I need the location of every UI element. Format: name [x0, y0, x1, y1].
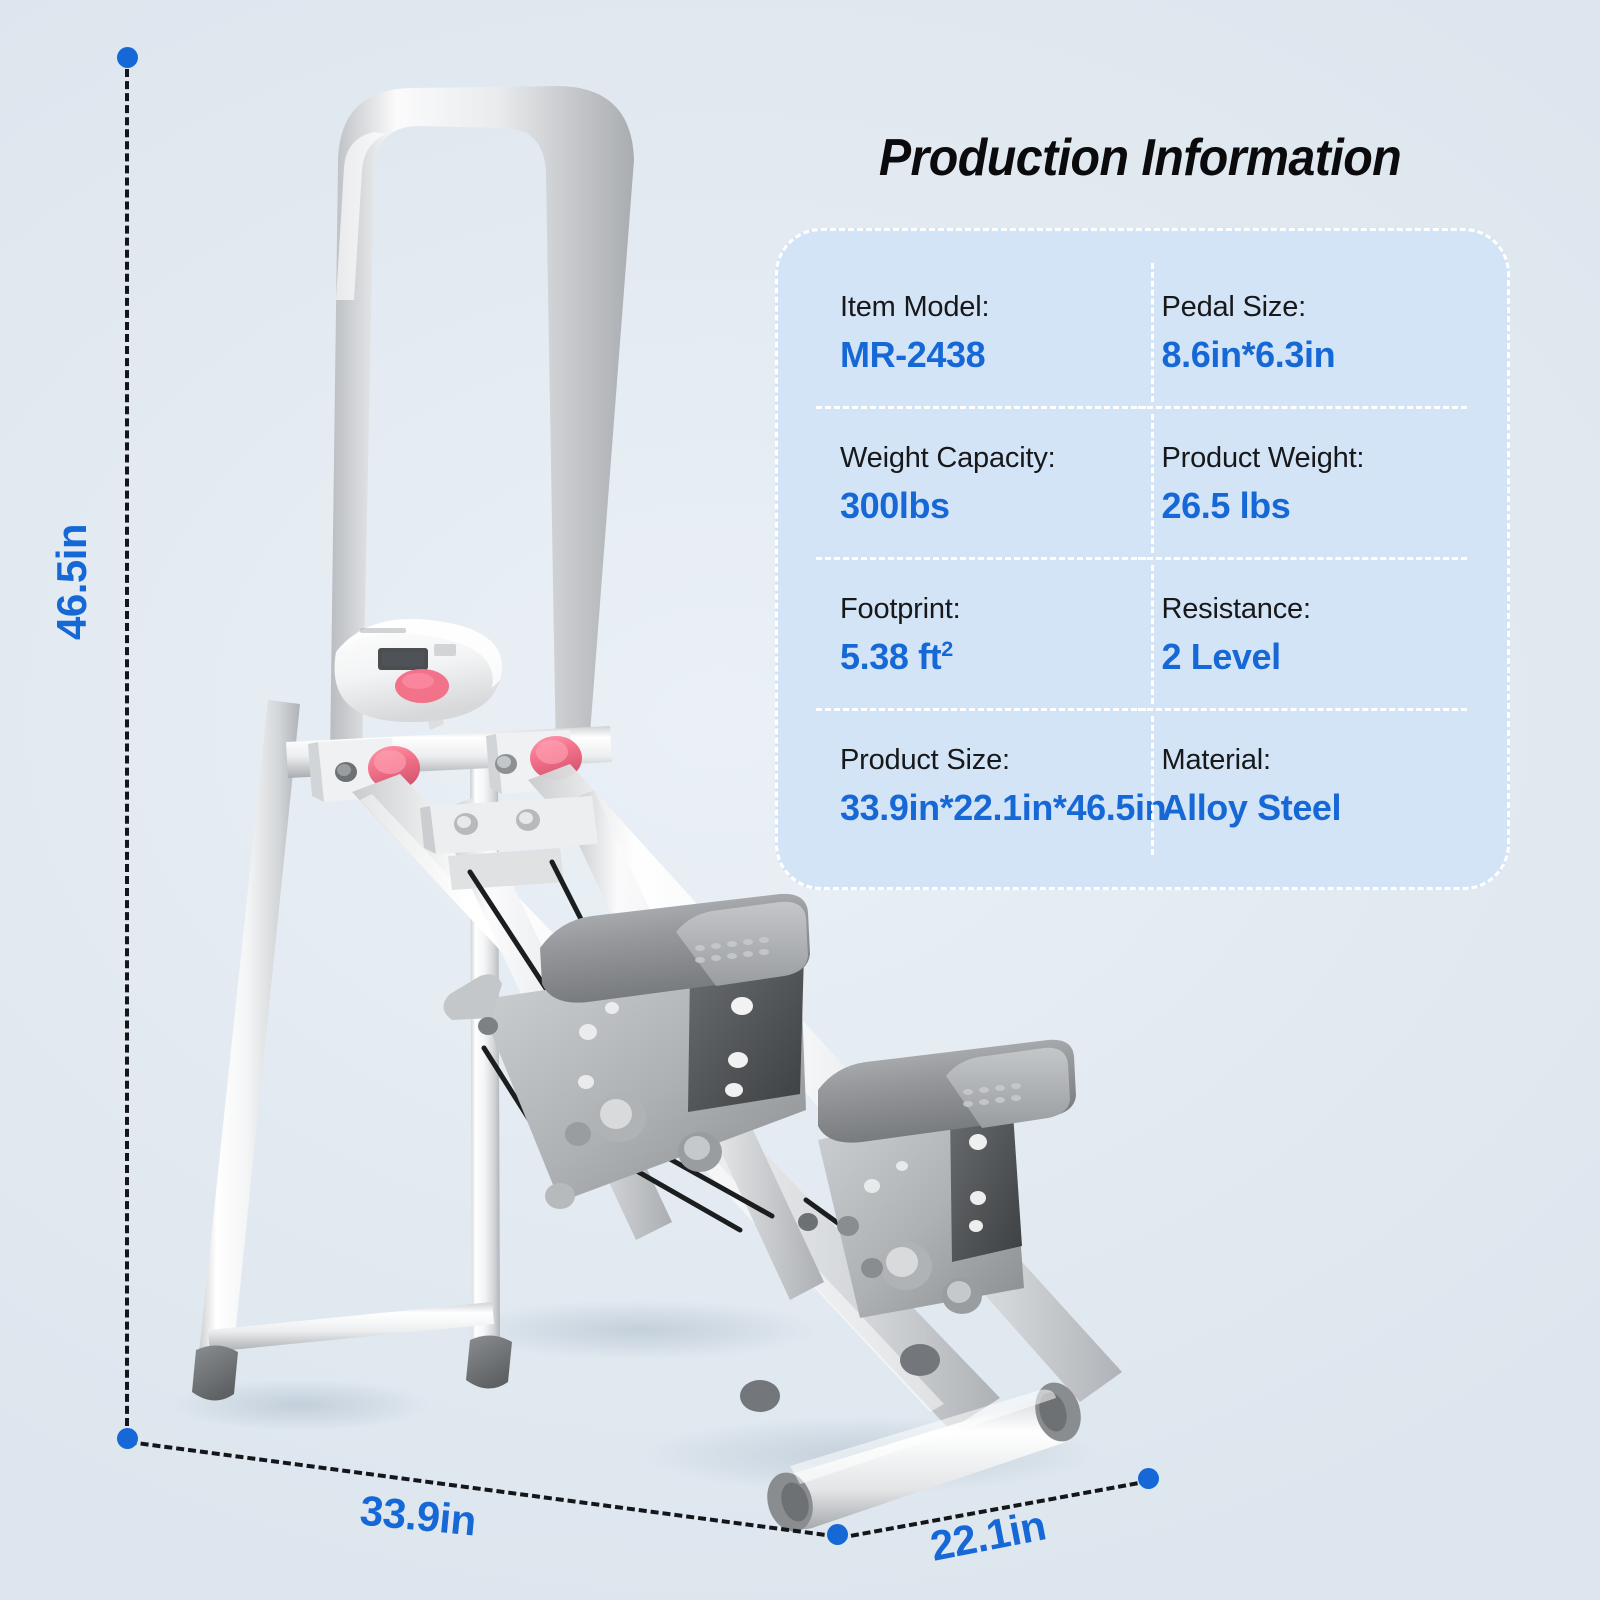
dimension-dot-bottom-left [117, 1428, 138, 1449]
dimension-dot-right [1138, 1468, 1159, 1489]
infographic-canvas: 46.5in 33.9in 22.1in Production Informat… [0, 0, 1600, 1600]
dimension-dot-corner [827, 1524, 848, 1545]
product-illustration [0, 0, 1600, 1600]
dimension-line-height [125, 57, 129, 1438]
dimension-dot-top [117, 47, 138, 68]
dimension-label-height: 46.5in [48, 524, 96, 640]
